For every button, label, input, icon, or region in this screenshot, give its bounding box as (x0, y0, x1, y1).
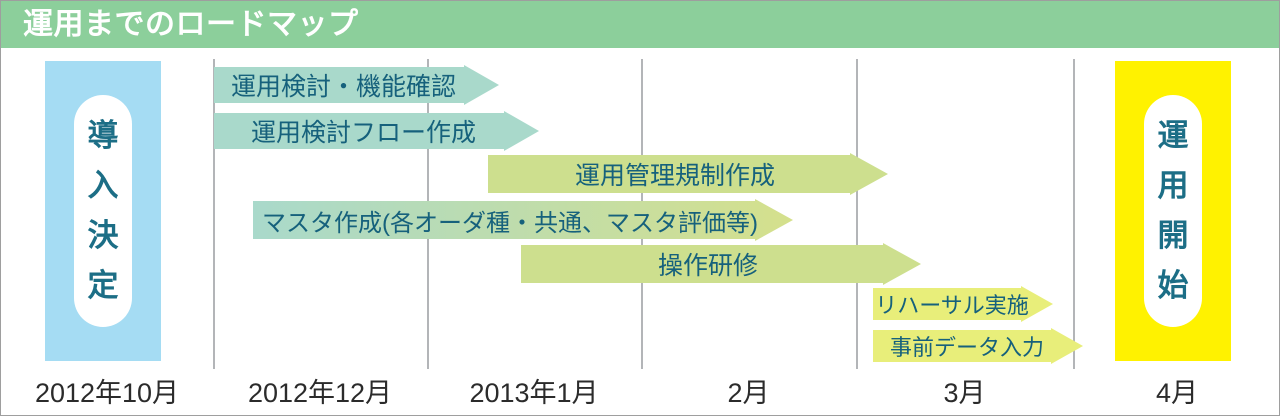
page-title: 運用までのロードマップ (23, 5, 359, 45)
milestone-char: 定 (88, 261, 119, 311)
milestone-pill-start: 導 入 決 定 (74, 95, 132, 327)
milestone-char: 開 (1158, 211, 1189, 261)
milestone-label-end: 運 用 開 始 (1144, 95, 1202, 327)
task-arrow-4: マスタ作成(各オーダ種・共通、マスタ評価等) (253, 199, 793, 241)
task-arrow-label: 運用検討フロー作成 (214, 113, 539, 149)
milestone-char: 導 (88, 111, 119, 161)
task-arrow-7: 事前データ入力 (873, 328, 1083, 364)
axis-label-2: 2012年12月 (213, 371, 427, 410)
task-arrow-label: リハーサル実施 (873, 288, 1053, 320)
task-arrow-1: 運用検討・機能確認 (214, 65, 499, 105)
task-arrow-6: リハーサル実施 (873, 286, 1053, 322)
axis-label-4: 2月 (641, 371, 856, 410)
task-arrow-5: 操作研修 (521, 243, 921, 285)
milestone-char: 決 (88, 211, 119, 261)
axis-label-6: 4月 (1073, 371, 1280, 410)
task-arrow-label: 操作研修 (521, 246, 921, 282)
task-arrow-label: マスタ作成(各オーダ種・共通、マスタ評価等) (253, 203, 793, 238)
milestone-char: 入 (88, 161, 119, 211)
milestone-label-start: 導 入 決 定 (74, 95, 132, 327)
milestone-char: 用 (1158, 161, 1189, 211)
task-arrow-label: 事前データ入力 (873, 330, 1083, 362)
milestone-char: 運 (1158, 111, 1189, 161)
task-arrow-2: 運用検討フロー作成 (214, 111, 539, 151)
timeline-divider-5 (1073, 59, 1075, 369)
milestone-box-end: 運 用 開 始 (1115, 61, 1231, 361)
timeline-divider-1 (213, 59, 215, 369)
milestone-box-start: 導 入 決 定 (45, 61, 161, 361)
axis-label-5: 3月 (856, 371, 1073, 410)
axis-label-1: 2012年10月 (1, 371, 213, 410)
task-arrow-label: 運用管理規制作成 (488, 156, 888, 192)
milestone-pill-end: 運 用 開 始 (1144, 95, 1202, 327)
timeline-divider-4 (856, 59, 858, 369)
task-arrow-3: 運用管理規制作成 (488, 153, 888, 195)
roadmap-diagram: 運用までのロードマップ 導 入 決 定 運 用 開 始 (0, 0, 1280, 416)
axis-label-3: 2013年1月 (427, 371, 641, 410)
task-arrow-label: 運用検討・機能確認 (214, 67, 499, 103)
milestone-char: 始 (1158, 261, 1189, 311)
